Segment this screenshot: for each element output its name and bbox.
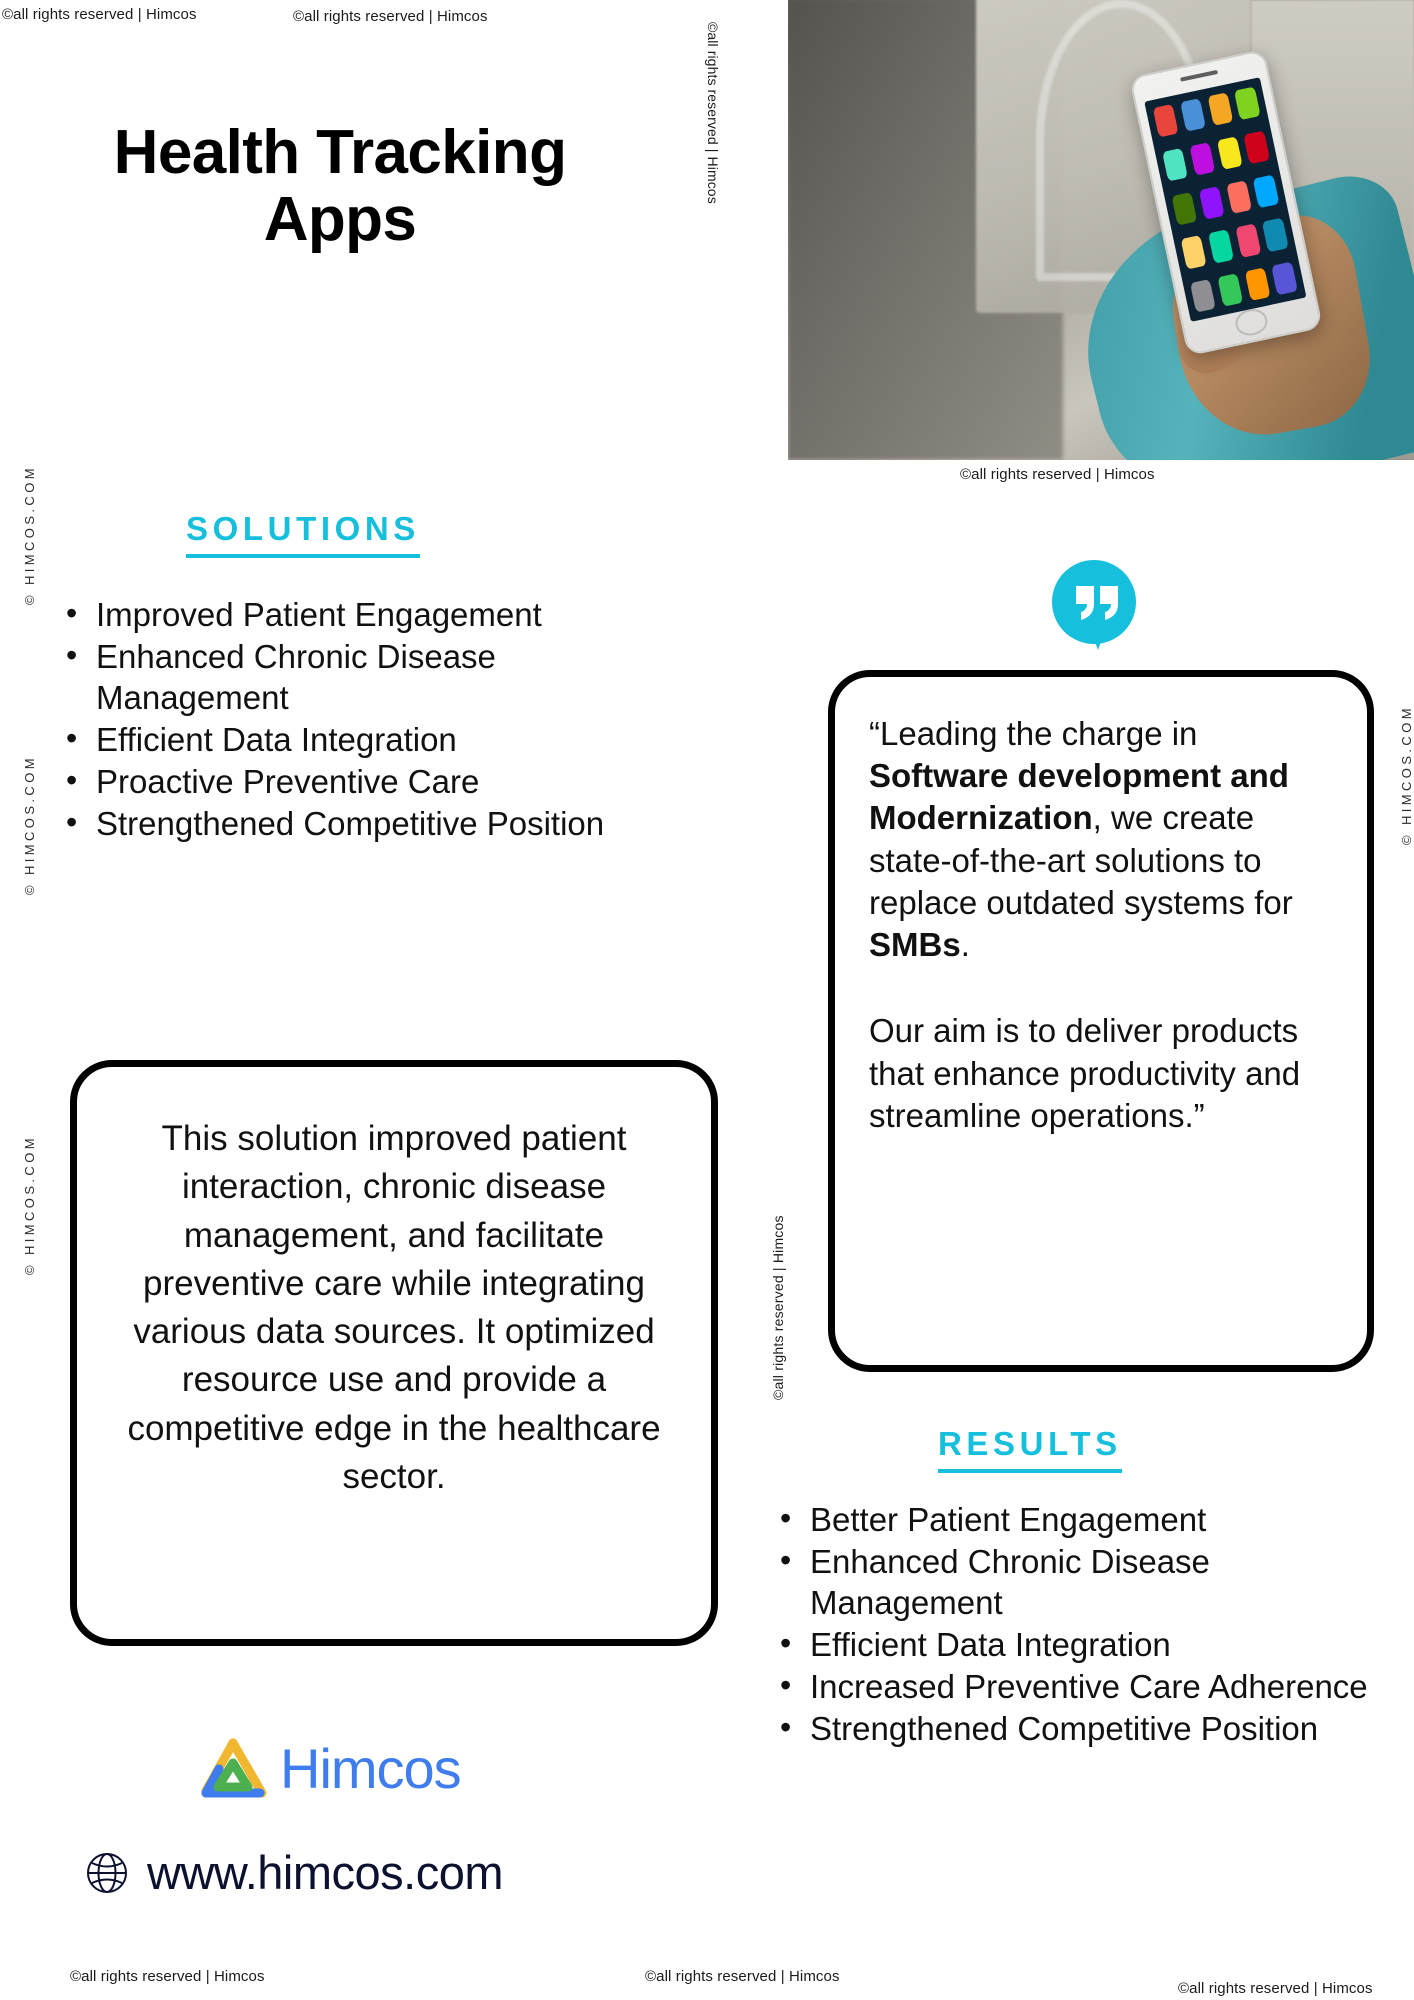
list-item: Efficient Data Integration — [58, 720, 628, 760]
list-item: Efficient Data Integration — [772, 1625, 1372, 1665]
himcos-triangle-icon — [196, 1735, 270, 1803]
list-item: Enhanced Chronic Disease Management — [772, 1542, 1372, 1623]
watermark-vertical-right: © HIMCOS.COM — [1399, 705, 1414, 845]
quote-spacer — [869, 966, 1337, 1010]
brand-logo: Himcos — [196, 1735, 461, 1803]
testimonial-text: This solution improved patient interacti… — [121, 1115, 667, 1501]
watermark-image-caption: ©all rights reserved | Himcos — [960, 466, 1155, 483]
quote-bubble-icon — [1046, 558, 1142, 654]
watermark-vertical-middle: ©all rights reserved | Himcos — [770, 1215, 786, 1400]
phone-earpiece — [1181, 70, 1219, 82]
watermark-bottom-center: ©all rights reserved | Himcos — [645, 1968, 840, 1985]
hero-phone-photo — [788, 0, 1414, 460]
quote-pre: “Leading the charge in — [869, 715, 1197, 752]
poster-page: ©all rights reserved | Himcos ©all right… — [0, 0, 1414, 2000]
website-url[interactable]: www.himcos.com — [147, 1845, 503, 1900]
watermark-top-left: ©all rights reserved | Himcos — [2, 6, 197, 23]
quote-paragraph-2: Our aim is to deliver products that enha… — [869, 1010, 1337, 1137]
himcos-wordmark: Himcos — [280, 1741, 461, 1797]
quote-paragraph-1: “Leading the charge in Software developm… — [869, 713, 1337, 966]
list-item: Enhanced Chronic Disease Management — [58, 637, 628, 718]
results-list: Better Patient Engagement Enhanced Chron… — [772, 1500, 1372, 1752]
globe-icon — [85, 1851, 129, 1895]
quote-post: . — [961, 926, 970, 963]
list-item: Better Patient Engagement — [772, 1500, 1372, 1540]
testimonial-box: This solution improved patient interacti… — [70, 1060, 718, 1646]
watermark-bottom-left: ©all rights reserved | Himcos — [70, 1968, 265, 1985]
list-item: Improved Patient Engagement — [58, 595, 628, 635]
list-item: Strengthened Competitive Position — [58, 804, 628, 844]
watermark-image-side: ©all rights reserved | Himcos — [704, 22, 722, 212]
watermark-top-center: ©all rights reserved | Himcos — [293, 8, 488, 25]
solutions-list: Improved Patient Engagement Enhanced Chr… — [58, 595, 628, 847]
page-title: Health Tracking Apps — [60, 120, 620, 254]
results-heading: RESULTS — [938, 1425, 1122, 1473]
website-row[interactable]: www.himcos.com — [85, 1845, 503, 1900]
list-item: Increased Preventive Care Adherence — [772, 1667, 1372, 1707]
watermark-vertical-left-3: © HIMCOS.COM — [22, 1135, 37, 1275]
list-item: Proactive Preventive Care — [58, 762, 628, 802]
quote-box: “Leading the charge in Software developm… — [828, 670, 1374, 1372]
list-item: Strengthened Competitive Position — [772, 1709, 1372, 1749]
watermark-vertical-left-1: © HIMCOS.COM — [22, 465, 37, 605]
watermark-bottom-right: ©all rights reserved | Himcos — [1178, 1980, 1373, 1997]
watermark-vertical-left-2: © HIMCOS.COM — [22, 755, 37, 895]
quote-bold-2: SMBs — [869, 926, 961, 963]
solutions-heading: SOLUTIONS — [186, 510, 420, 558]
